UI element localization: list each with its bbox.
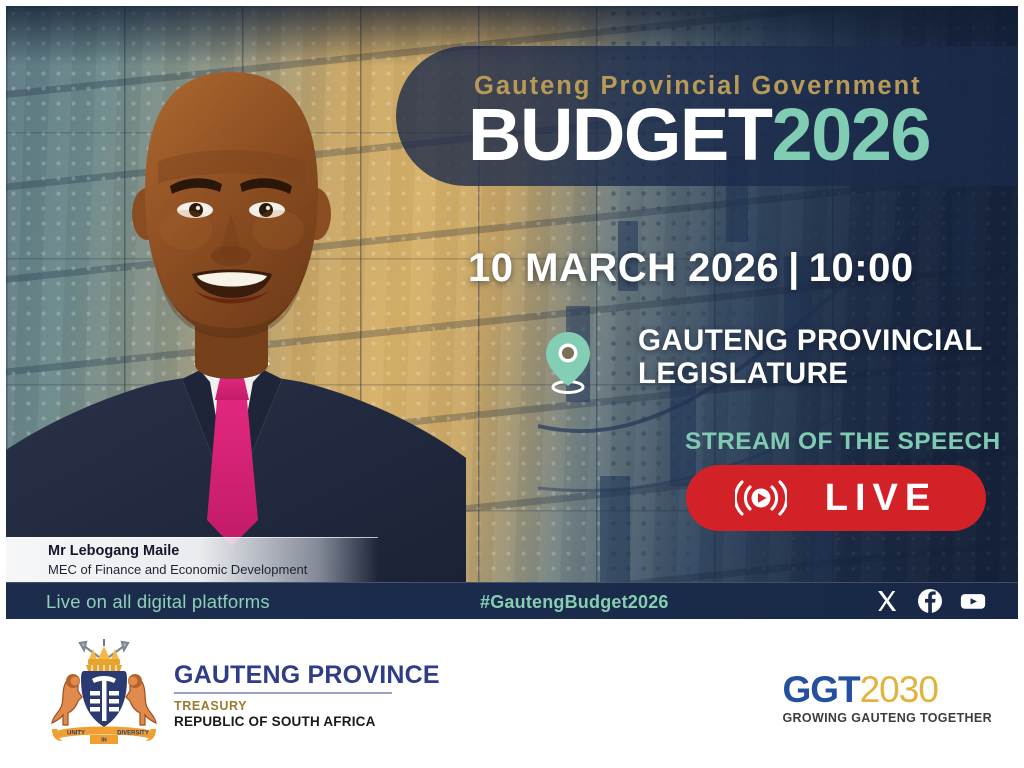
x-twitter-icon[interactable]: [874, 588, 900, 614]
live-button-label: LIVE: [821, 477, 937, 520]
venue-line-2: LEGISLATURE: [638, 357, 983, 390]
event-date: 10 MARCH 2026: [468, 246, 779, 290]
ggt2030-logo: GGT2030 GROWING GAUTENG TOGETHER: [782, 671, 992, 725]
page-title: BUDGET2026: [468, 98, 930, 172]
datetime-separator: |: [779, 246, 809, 291]
event-time: 10:00: [809, 246, 914, 290]
coa-motto-mid: IN: [101, 738, 107, 744]
social-links: [874, 588, 986, 614]
ggt-tagline: GROWING GAUTENG TOGETHER: [782, 711, 992, 725]
youtube-icon[interactable]: [960, 588, 986, 614]
facebook-icon[interactable]: [917, 588, 943, 614]
live-broadcast-icon: [735, 478, 787, 518]
budget-word: BUDGET: [468, 93, 771, 176]
ggt-year: 2030: [860, 669, 938, 710]
footer-logo-bar: UNITY IN DIVERSITY GAUTENG PROVINCE TREA…: [0, 619, 1024, 768]
hero-banner: Gauteng Provincial Government BUDGET2026…: [6, 6, 1018, 619]
coa-motto-left: UNITY: [67, 731, 85, 737]
live-stream-button[interactable]: LIVE: [686, 465, 986, 531]
speaker-name: Mr Lebogang Maile: [48, 543, 179, 559]
gauteng-coat-of-arms-icon: UNITY IN DIVERSITY: [40, 637, 168, 749]
budget-poster: Gauteng Provincial Government BUDGET2026…: [0, 0, 1024, 768]
venue-name: GAUTENG PROVINCIAL LEGISLATURE: [638, 324, 983, 390]
department-name: TREASURY: [174, 699, 440, 713]
speaker-nameplate: Mr Lebogang Maile MEC of Finance and Eco…: [6, 537, 378, 582]
event-datetime: 10 MARCH 2026|10:00: [468, 246, 914, 291]
budget-year: 2026: [771, 93, 930, 176]
stream-label: STREAM OF THE SPEECH: [685, 428, 1001, 456]
speaker-role: MEC of Finance and Economic Development: [48, 562, 307, 577]
country-name: REPUBLIC OF SOUTH AFRICA: [174, 714, 440, 729]
platforms-note: Live on all digital platforms: [46, 591, 270, 613]
ggt-mark: GGT: [782, 669, 859, 710]
province-title: GAUTENG PROVINCE: [174, 663, 440, 688]
venue-line-1: GAUTENG PROVINCIAL: [638, 324, 983, 357]
location-pin-icon: [542, 330, 594, 394]
wordmark-rule: [174, 692, 392, 694]
gauteng-province-wordmark: GAUTENG PROVINCE TREASURY REPUBLIC OF SO…: [174, 663, 440, 729]
coa-motto-right: DIVERSITY: [117, 731, 149, 737]
ggt-logo-text: GGT2030: [782, 671, 992, 708]
event-hashtag: #GautengBudget2026: [480, 592, 669, 613]
